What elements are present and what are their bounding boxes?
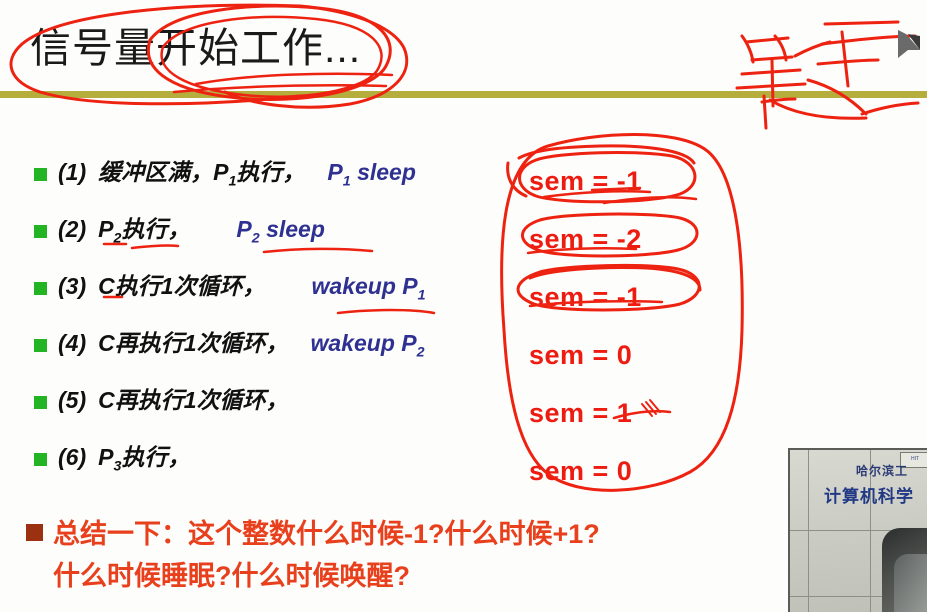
sem-value: sem = -1 bbox=[529, 282, 642, 313]
sem-value: sem = 0 bbox=[529, 340, 632, 371]
summary-text: 总结一下：这个整数什么时候-1?什么时候+1? 什么时候睡眠?什么时候唤醒? bbox=[53, 514, 600, 598]
sem-value: sem = -2 bbox=[529, 224, 642, 255]
bullet-square-icon bbox=[34, 168, 47, 181]
wall-panel-line bbox=[808, 450, 809, 612]
semaphore-value-column: sem = -1 sem = -2 sem = -1 sem = 0 sem =… bbox=[529, 152, 749, 500]
bullet-list: (1)缓冲区满，P1执行，P1 sleep (2)P2执行，P2 sleep (… bbox=[34, 152, 534, 494]
list-item: (6)P3执行， bbox=[34, 437, 534, 494]
list-item-text: (1)缓冲区满，P1执行，P1 sleep bbox=[58, 158, 416, 191]
list-item: (1)缓冲区满，P1执行，P1 sleep bbox=[34, 152, 534, 209]
sem-row: sem = 1 bbox=[529, 384, 749, 442]
sem-row: sem = -2 bbox=[529, 210, 749, 268]
summary-block: 总结一下：这个整数什么时候-1?什么时候+1? 什么时候睡眠?什么时候唤醒? bbox=[26, 514, 600, 598]
sem-value: sem = 1 bbox=[529, 398, 632, 429]
video-inset[interactable]: HIT 哈尔滨工 计算机科学 bbox=[788, 448, 927, 612]
cursor-arrow-icon bbox=[898, 30, 920, 58]
list-item-text: (5)C再执行1次循环， bbox=[58, 386, 289, 416]
list-item-text: (4)C再执行1次循环，wakeup P2 bbox=[58, 329, 425, 362]
list-item: (2)P2执行，P2 sleep bbox=[34, 209, 534, 266]
wall-text-main: 计算机科学 bbox=[824, 482, 914, 507]
blue-action-text: P2 sleep bbox=[236, 216, 325, 242]
sem-value: sem = -1 bbox=[529, 166, 642, 197]
list-item-text: (3)C执行1次循环，wakeup P1 bbox=[58, 272, 426, 305]
bullet-square-icon bbox=[34, 225, 47, 238]
page-title: 信号量开始工作... bbox=[30, 26, 361, 71]
wall-text-top: 哈尔滨工 bbox=[856, 462, 908, 479]
bullet-square-icon bbox=[26, 524, 43, 541]
sem-row: sem = 0 bbox=[529, 326, 749, 384]
list-item-text: (2)P2执行，P2 sleep bbox=[58, 215, 325, 248]
blue-action-text: wakeup P2 bbox=[311, 330, 425, 356]
presentation-slide: 信号量开始工作... (1)缓冲区满，P1执行，P1 sleep (2)P2执行… bbox=[0, 0, 927, 612]
blue-action-text: P1 sleep bbox=[327, 159, 416, 185]
chair-highlight bbox=[894, 554, 927, 612]
sem-row: sem = -1 bbox=[529, 152, 749, 210]
sem-value: sem = 0 bbox=[529, 456, 632, 487]
sem-row: sem = 0 bbox=[529, 442, 749, 500]
bullet-square-icon bbox=[34, 282, 47, 295]
list-item: (3)C执行1次循环，wakeup P1 bbox=[34, 266, 534, 323]
sem-row: sem = -1 bbox=[529, 268, 749, 326]
blue-action-text: wakeup P1 bbox=[312, 273, 426, 299]
bullet-square-icon bbox=[34, 453, 47, 466]
bullet-square-icon bbox=[34, 396, 47, 409]
summary-line-2: 什么时候睡眠?什么时候唤醒? bbox=[53, 556, 600, 598]
list-item: (4)C再执行1次循环，wakeup P2 bbox=[34, 323, 534, 380]
list-item: (5)C再执行1次循环， bbox=[34, 380, 534, 437]
bullet-square-icon bbox=[34, 339, 47, 352]
list-item-text: (6)P3执行， bbox=[58, 443, 190, 476]
summary-line-1: 总结一下：这个整数什么时候-1?什么时候+1? bbox=[53, 514, 600, 556]
title-divider bbox=[0, 91, 927, 98]
